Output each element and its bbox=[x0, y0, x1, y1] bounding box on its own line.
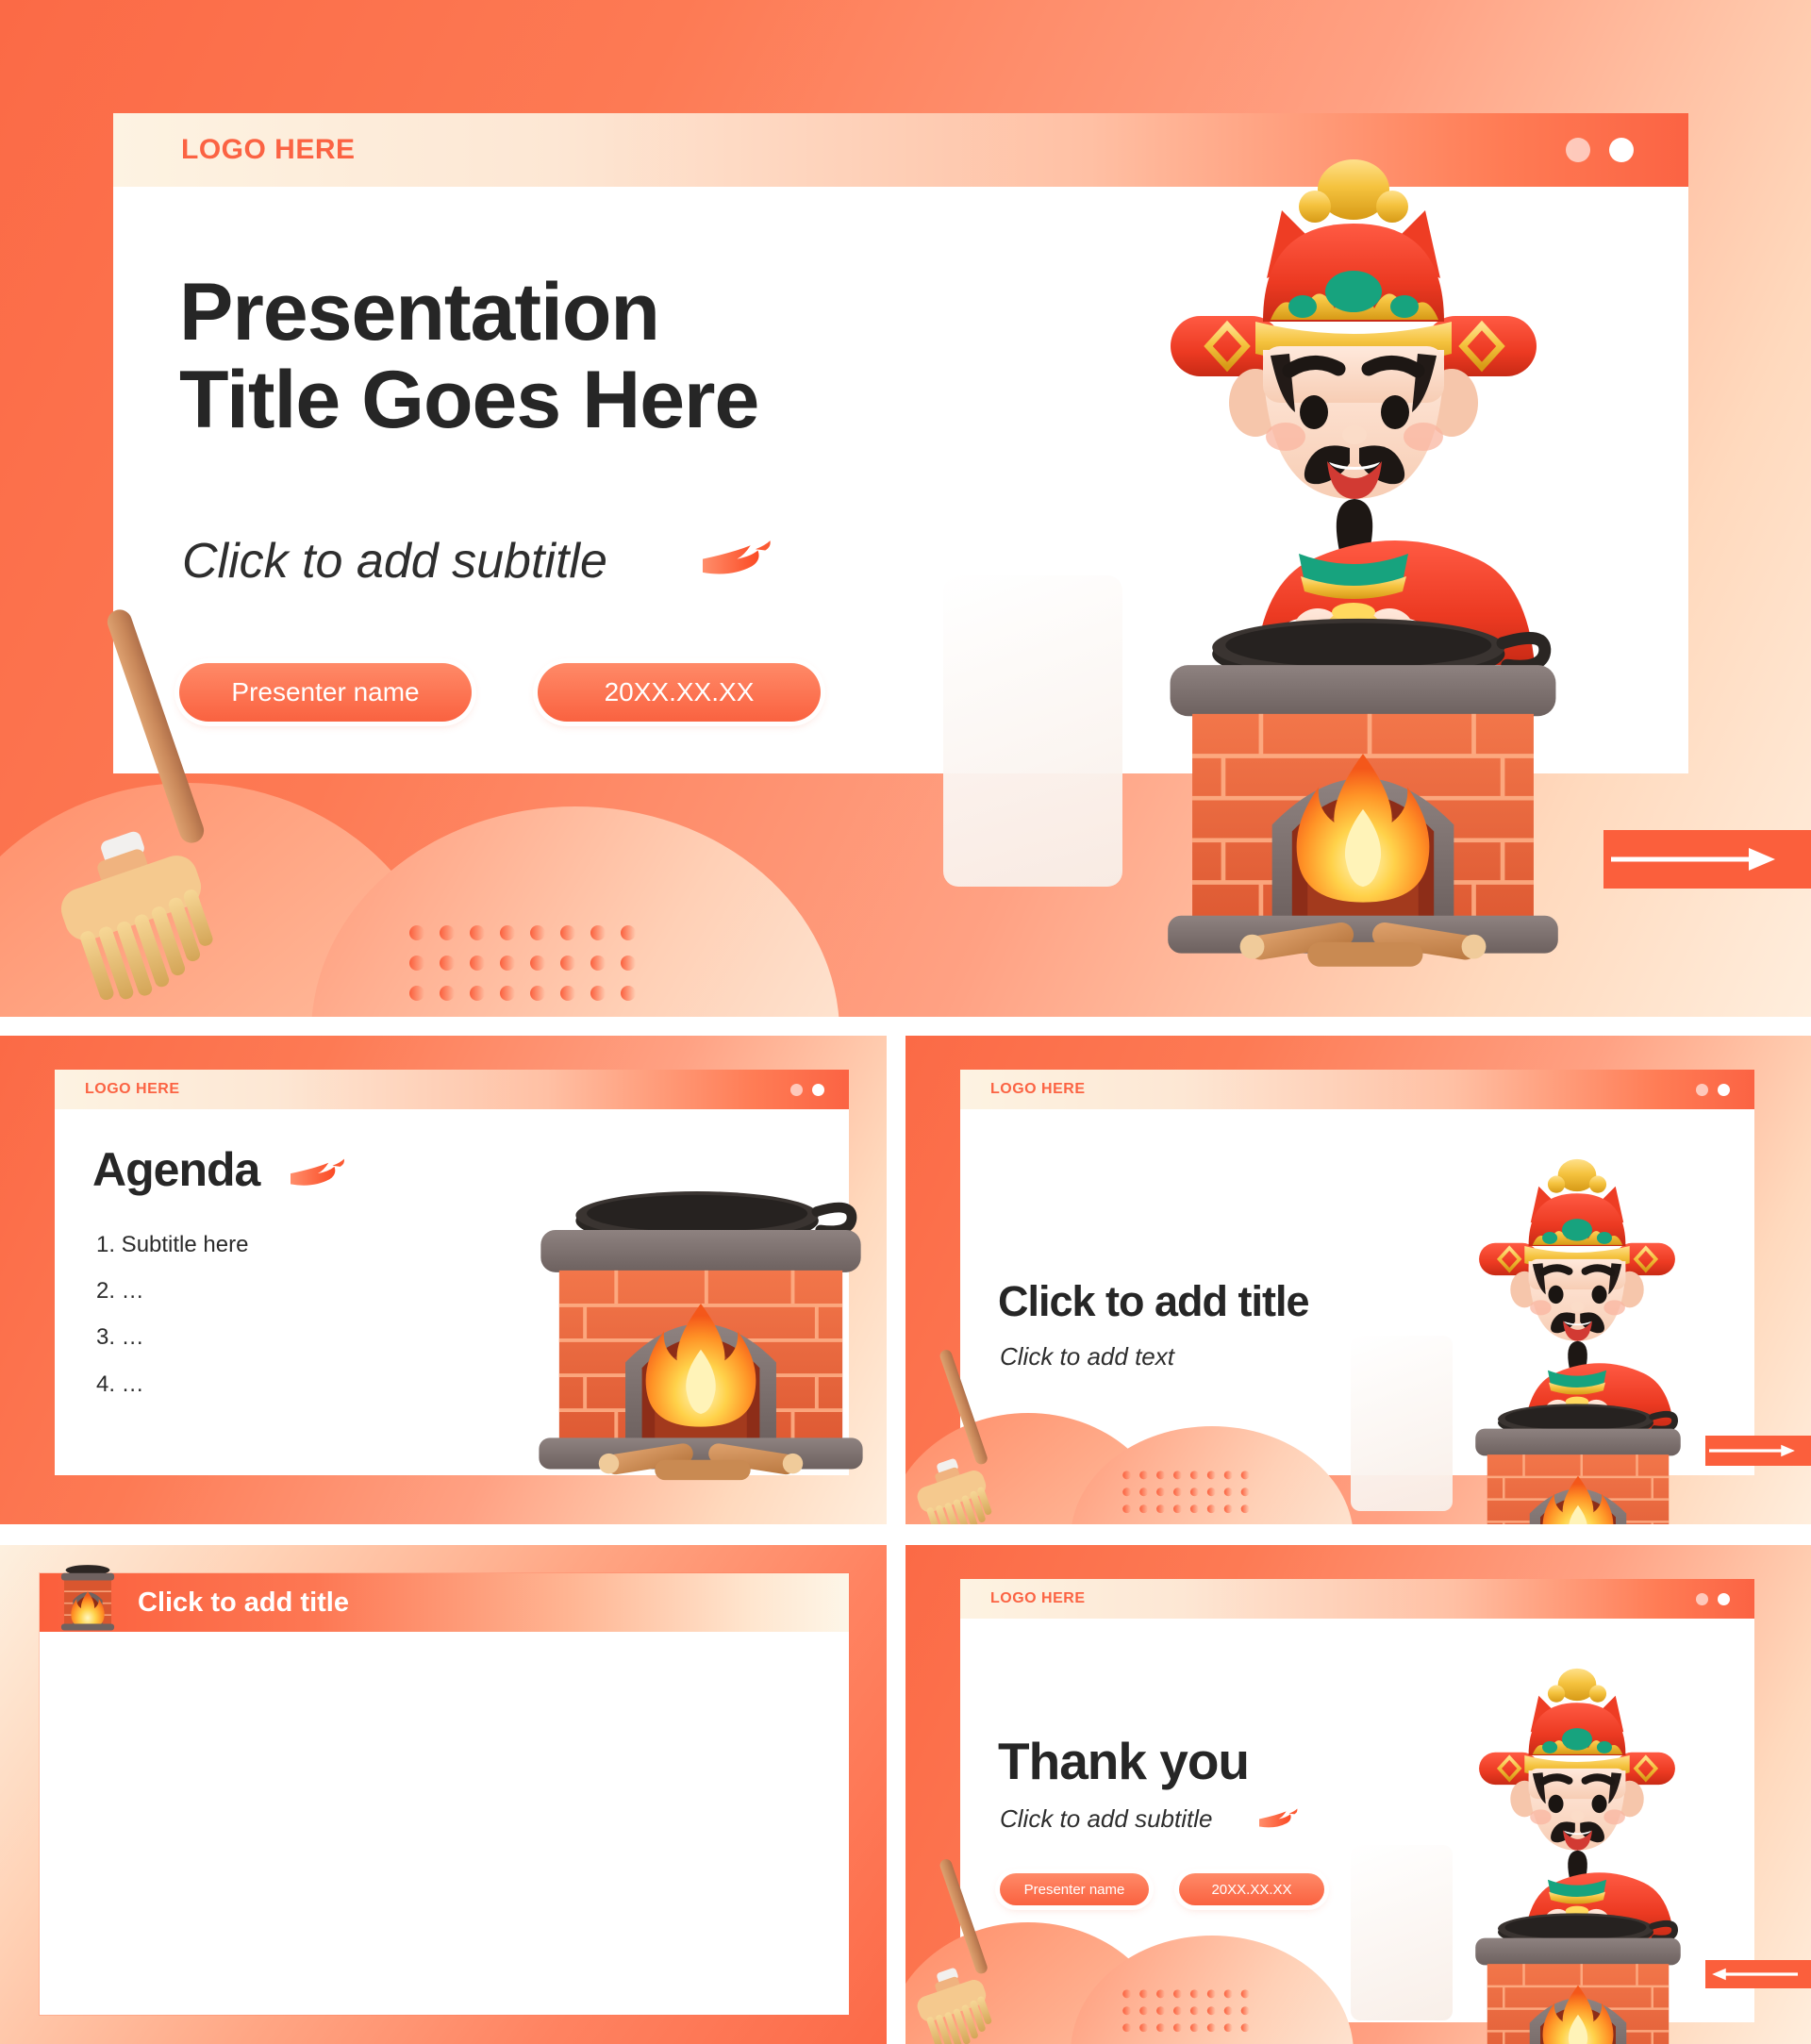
subtitle-highlight: subtitle bbox=[1135, 1804, 1212, 1834]
arrow-left-icon bbox=[1709, 1967, 1798, 1982]
decor-dot-grid bbox=[406, 920, 641, 1014]
logo-placeholder[interactable]: LOGO HERE bbox=[990, 1081, 1086, 1098]
slide-blank-titlebar: Click to add title bbox=[40, 1573, 849, 1632]
page-title[interactable]: Click to add title bbox=[138, 1587, 349, 1619]
presentation-template-preview: LOGO HERE Presentation Title Goes Here C… bbox=[0, 0, 1811, 2044]
broom-icon bbox=[57, 604, 283, 1000]
subtitle-prefix: Click to add bbox=[1000, 1804, 1135, 1833]
window-dot-muted[interactable] bbox=[1696, 1593, 1708, 1605]
list-item[interactable]: 4. … bbox=[96, 1361, 248, 1407]
window-dot-muted[interactable] bbox=[1696, 1084, 1708, 1096]
decor-arrow-bar bbox=[1705, 1960, 1811, 1988]
date-button[interactable]: 20XX.XX.XX bbox=[1179, 1873, 1324, 1905]
window-controls[interactable] bbox=[1696, 1593, 1730, 1605]
agenda-list[interactable]: 1. Subtitle here 2. … 3. … 4. … bbox=[96, 1221, 248, 1407]
date-button[interactable]: 20XX.XX.XX bbox=[538, 663, 821, 722]
window-dot-muted[interactable] bbox=[790, 1084, 803, 1096]
slide-content-topbar: LOGO HERE bbox=[960, 1070, 1754, 1109]
slide-blank-title[interactable]: Click to add title bbox=[0, 1545, 887, 2044]
logo-placeholder[interactable]: LOGO HERE bbox=[990, 1590, 1086, 1607]
slide-blank-canvas bbox=[40, 1573, 849, 2015]
list-item[interactable]: 2. … bbox=[96, 1268, 248, 1314]
slide-title[interactable]: LOGO HERE Presentation Title Goes Here C… bbox=[0, 0, 1811, 1017]
logo-placeholder[interactable]: LOGO HERE bbox=[181, 134, 356, 166]
agenda-title[interactable]: Agenda bbox=[92, 1144, 259, 1195]
decor-dot-grid bbox=[1121, 1468, 1253, 1521]
brick-stove-figure bbox=[1460, 1398, 1696, 1524]
god-of-wealth-figure bbox=[1089, 137, 1618, 665]
window-dot-white[interactable] bbox=[1718, 1084, 1730, 1096]
broom-icon bbox=[915, 1347, 1026, 1524]
brick-stove-figure bbox=[1141, 608, 1585, 986]
god-of-wealth-figure bbox=[1436, 1656, 1719, 1939]
slide-agenda-topbar: LOGO HERE bbox=[55, 1070, 849, 1109]
logo-placeholder[interactable]: LOGO HERE bbox=[85, 1081, 180, 1098]
page-title[interactable]: Thank you bbox=[998, 1734, 1249, 1789]
decor-dot-grid bbox=[1121, 1986, 1253, 2039]
subtitle-prefix: Click to add bbox=[182, 534, 452, 589]
window-dot-white[interactable] bbox=[812, 1084, 824, 1096]
subtitle-highlight: subtitle bbox=[452, 533, 607, 590]
god-of-wealth-figure bbox=[1436, 1147, 1719, 1430]
decor-arrow-bar bbox=[1705, 1436, 1811, 1466]
arrow-right-icon bbox=[1709, 1443, 1798, 1458]
window-controls[interactable] bbox=[1696, 1084, 1730, 1096]
brick-stove-figure bbox=[1460, 1907, 1696, 2044]
slide-thankyou-topbar: LOGO HERE bbox=[960, 1579, 1754, 1619]
brick-stove-figure bbox=[517, 1175, 885, 1504]
list-item[interactable]: 1. Subtitle here bbox=[96, 1221, 248, 1268]
arrow-right-icon bbox=[1611, 845, 1781, 873]
slide-agenda[interactable]: LOGO HERE Agenda Agenda 1. Subtitle here… bbox=[0, 1036, 887, 1524]
slide-subtitle[interactable]: Click to add subtitle bbox=[1000, 1804, 1212, 1834]
broom-icon bbox=[915, 1856, 1026, 2044]
list-item[interactable]: 3. … bbox=[96, 1314, 248, 1360]
fireplace-icon bbox=[51, 1562, 125, 1636]
slide-thankyou[interactable]: LOGO HERE Thank you Click to add subtitl… bbox=[905, 1545, 1811, 2044]
slide-subtitle[interactable]: Click to add subtitle bbox=[182, 533, 607, 590]
content-title[interactable]: Click to add title bbox=[998, 1279, 1309, 1325]
slide-content[interactable]: LOGO HERE Click to add title Click to ad… bbox=[905, 1036, 1811, 1524]
decor-arrow-bar bbox=[1603, 830, 1811, 889]
window-dot-white[interactable] bbox=[1718, 1593, 1730, 1605]
page-title[interactable]: Presentation Title Goes Here bbox=[179, 269, 1085, 444]
window-controls[interactable] bbox=[790, 1084, 824, 1096]
